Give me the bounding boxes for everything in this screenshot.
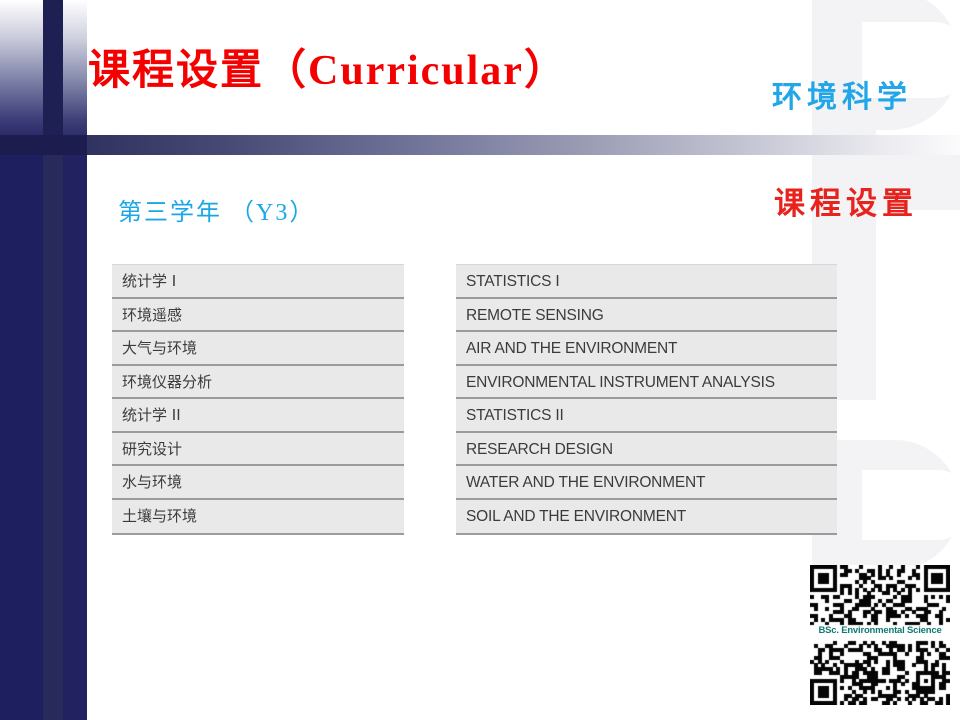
course-table-english: STATISTICS I REMOTE SENSING AIR AND THE … <box>456 264 837 535</box>
course-row: 研究设计 <box>112 433 404 467</box>
divider-band-left <box>0 135 87 155</box>
left-gradient-bar-outer <box>0 0 43 136</box>
section-label-right: 课程设置 <box>774 178 918 223</box>
watermark-p-bottom-hole <box>862 470 960 540</box>
watermark-p-bottom-bowl <box>830 440 960 570</box>
course-row: 大气与环境 <box>112 332 404 366</box>
course-row: WATER AND THE ENVIRONMENT <box>456 466 837 500</box>
course-table-chinese: 统计学 I 环境遥感 大气与环境 环境仪器分析 统计学 II 研究设计 水与环境… <box>112 264 404 535</box>
qr-code[interactable]: BSc. Environmental Science <box>810 565 950 705</box>
left-solid-bar <box>43 0 63 136</box>
slide: 课程设置（Curricular） 环境科学 课程设置 第三学年 （Y3） 统计学… <box>0 0 960 720</box>
course-row: STATISTICS I <box>456 265 837 299</box>
course-row: 统计学 II <box>112 399 404 433</box>
course-row: AIR AND THE ENVIRONMENT <box>456 332 837 366</box>
course-row: ENVIRONMENTAL INSTRUMENT ANALYSIS <box>456 366 837 400</box>
qr-code-label: BSc. Environmental Science <box>810 625 950 636</box>
left-gradient-bar-inner <box>63 0 87 136</box>
year-subtitle: 第三学年 （Y3） <box>118 192 315 227</box>
page-title: 课程设置（Curricular） <box>88 36 568 97</box>
course-row: 环境遥感 <box>112 299 404 333</box>
course-row: SOIL AND THE ENVIRONMENT <box>456 500 837 534</box>
course-row: 水与环境 <box>112 466 404 500</box>
course-row: RESEARCH DESIGN <box>456 433 837 467</box>
course-row: 土壤与环境 <box>112 500 404 534</box>
left-navy-bar-outer <box>0 155 43 720</box>
course-row: REMOTE SENSING <box>456 299 837 333</box>
divider-band-gradient <box>87 135 960 155</box>
course-row: 统计学 I <box>112 265 404 299</box>
course-row: 环境仪器分析 <box>112 366 404 400</box>
program-name-header: 环境科学 <box>772 72 912 116</box>
course-row: STATISTICS II <box>456 399 837 433</box>
left-navy-bar-middle <box>43 155 63 720</box>
left-navy-bar-inner <box>63 155 87 720</box>
